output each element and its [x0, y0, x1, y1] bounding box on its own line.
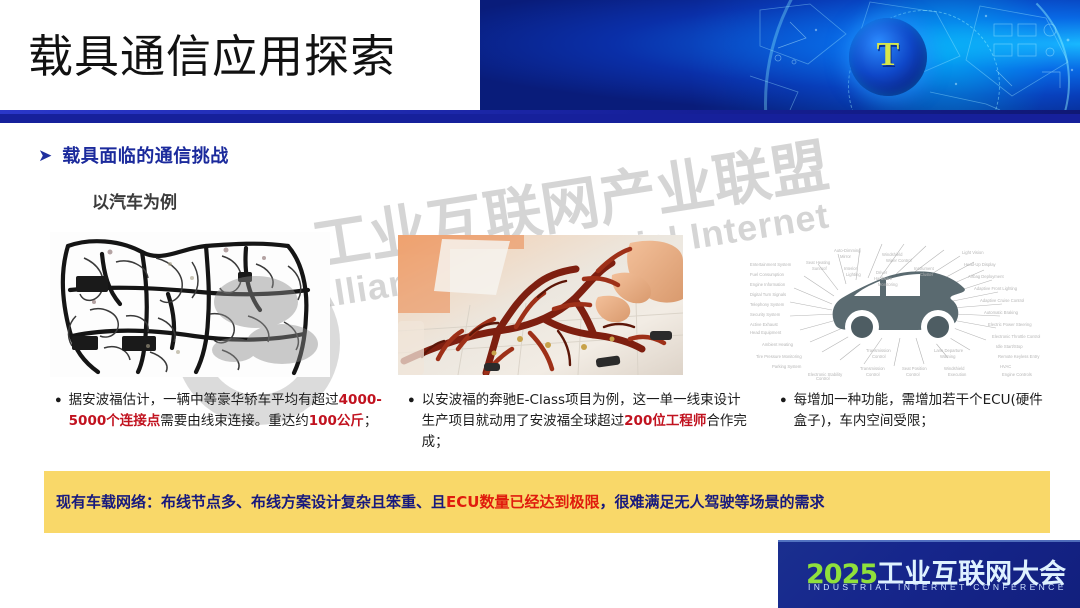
svg-text:Control: Control	[866, 372, 880, 377]
svg-text:Windshield: Windshield	[882, 252, 903, 257]
svg-text:Entertainment System: Entertainment System	[750, 262, 792, 267]
section-heading-label: 载具面临的通信挑战	[62, 142, 229, 168]
svg-text:Seat Heating: Seat Heating	[806, 260, 831, 265]
svg-text:Adaptive Front Lighting: Adaptive Front Lighting	[974, 286, 1018, 291]
svg-text:Parking System: Parking System	[772, 364, 802, 369]
svg-text:Hardware: Hardware	[874, 276, 893, 281]
section-subheading: 以汽车为例	[92, 188, 177, 213]
conference-footer-logo: 2025工业互联网大会 INDUSTRIAL INTERNET CONFEREN…	[778, 540, 1080, 608]
bullet-item-1: ● 据安波福估计，一辆中等豪华轿车平均有超过4000-5000个连接点需要由线束…	[55, 390, 385, 432]
slide-header: T 载具通信应用探索	[0, 0, 1080, 110]
svg-text:Head-Up Display: Head-Up Display	[964, 262, 997, 267]
wiring-harness-sketch-image	[50, 232, 330, 377]
svg-text:Mirror: Mirror	[840, 254, 852, 259]
header-logo-letter-icon: T	[864, 36, 912, 76]
bullet-item-2: ● 以安波福的奔驰E-Class项目为例，这一单一线束设计生产项目就动用了安波福…	[408, 390, 753, 453]
page-title: 载具通信应用探索	[28, 20, 396, 85]
svg-text:Engine Information: Engine Information	[750, 282, 786, 287]
svg-text:Telephony System: Telephony System	[750, 302, 785, 307]
svg-text:Warning: Warning	[940, 354, 956, 359]
summary-callout-box: 现有车载网络：布线节点多、布线方案设计复杂且笨重、且ECU数量已经达到极限，很难…	[44, 471, 1050, 533]
svg-text:Interior: Interior	[844, 266, 858, 271]
svg-text:Wiper Control: Wiper Control	[886, 258, 912, 263]
section-heading: ➤ 载具面临的通信挑战	[38, 142, 229, 168]
svg-text:Driver: Driver	[876, 270, 888, 275]
slide-root: T 载具通信应用探索 ➤ 载具面临的通信挑战 以汽车为例 工业互联网产业联盟 A…	[0, 0, 1080, 608]
svg-text:Instrument: Instrument	[914, 266, 935, 271]
svg-text:Light Vision: Light Vision	[962, 250, 984, 255]
svg-text:Monitoring: Monitoring	[878, 282, 898, 287]
svg-text:Transmission: Transmission	[860, 366, 885, 371]
bullet-text-2: 以安波福的奔驰E-Class项目为例，这一单一线束设计生产项目就动用了安波福全球…	[422, 390, 753, 453]
svg-text:Auto-Dimming: Auto-Dimming	[834, 248, 861, 253]
svg-text:Ambient Heating: Ambient Heating	[762, 342, 794, 347]
svg-text:Seat Position: Seat Position	[902, 366, 927, 371]
harness-assembly-photo	[398, 235, 683, 375]
arrow-right-icon: ➤	[38, 147, 52, 164]
svg-text:Control: Control	[872, 354, 886, 359]
svg-text:Sunroof: Sunroof	[812, 266, 828, 271]
svg-text:Control: Control	[816, 376, 830, 380]
svg-text:Head Equipment: Head Equipment	[750, 330, 782, 335]
image-row: Entertainment System Fuel Consumption En…	[0, 232, 1080, 382]
footer-divider	[778, 540, 1080, 542]
header-tech-graphic: T	[480, 0, 1080, 110]
svg-text:Security System: Security System	[750, 312, 781, 317]
footer-title-en: INDUSTRIAL INTERNET CONFERENCE	[808, 582, 1067, 592]
bullet-marker-icon: ●	[408, 390, 415, 453]
svg-text:Idle Start/Stop: Idle Start/Stop	[996, 344, 1023, 349]
svg-text:Digital Turn Signals: Digital Turn Signals	[750, 292, 786, 297]
svg-text:Electric Power Steering: Electric Power Steering	[988, 322, 1032, 327]
svg-text:HVAC: HVAC	[1000, 364, 1011, 369]
svg-text:Lane Departure: Lane Departure	[934, 348, 964, 353]
svg-text:Cluster: Cluster	[920, 272, 934, 277]
svg-text:Active Exhaust: Active Exhaust	[750, 322, 779, 327]
svg-text:Execution: Execution	[948, 372, 967, 377]
svg-text:Lighting: Lighting	[846, 272, 861, 277]
svg-text:Windshield: Windshield	[944, 366, 965, 371]
svg-text:Airbag Deployment: Airbag Deployment	[968, 274, 1004, 279]
svg-text:Transmission: Transmission	[866, 348, 891, 353]
car-ecu-diagram-image: Entertainment System Fuel Consumption En…	[748, 230, 1068, 380]
svg-text:Automatic Braking: Automatic Braking	[984, 310, 1019, 315]
header-accent-bar	[0, 110, 1080, 123]
bullet-text-1: 据安波福估计，一辆中等豪华轿车平均有超过4000-5000个连接点需要由线束连接…	[69, 390, 385, 432]
svg-text:Control: Control	[906, 372, 920, 377]
svg-text:Fuel Consumption: Fuel Consumption	[750, 272, 785, 277]
svg-text:Engine Controls: Engine Controls	[1002, 372, 1032, 377]
bullet-list: ● 据安波福估计，一辆中等豪华轿车平均有超过4000-5000个连接点需要由线束…	[0, 390, 1080, 470]
bullet-marker-icon: ●	[780, 390, 787, 432]
svg-text:Adaptive Cruise Control: Adaptive Cruise Control	[980, 298, 1024, 303]
bullet-text-3: 每增加一种功能，需增加若干个ECU(硬件盒子)，车内空间受限；	[794, 390, 1055, 432]
svg-text:Electronic Throttle Control: Electronic Throttle Control	[992, 334, 1040, 339]
header-accent-bar-shine	[0, 110, 1080, 114]
svg-text:Remote Keyless Entry: Remote Keyless Entry	[998, 354, 1040, 359]
bullet-marker-icon: ●	[55, 390, 62, 432]
bullet-item-3: ● 每增加一种功能，需增加若干个ECU(硬件盒子)，车内空间受限；	[780, 390, 1055, 432]
summary-callout-text: 现有车载网络：布线节点多、布线方案设计复杂且笨重、且ECU数量已经达到极限，很难…	[44, 489, 834, 515]
svg-text:Tire Pressure Monitoring: Tire Pressure Monitoring	[756, 354, 802, 359]
